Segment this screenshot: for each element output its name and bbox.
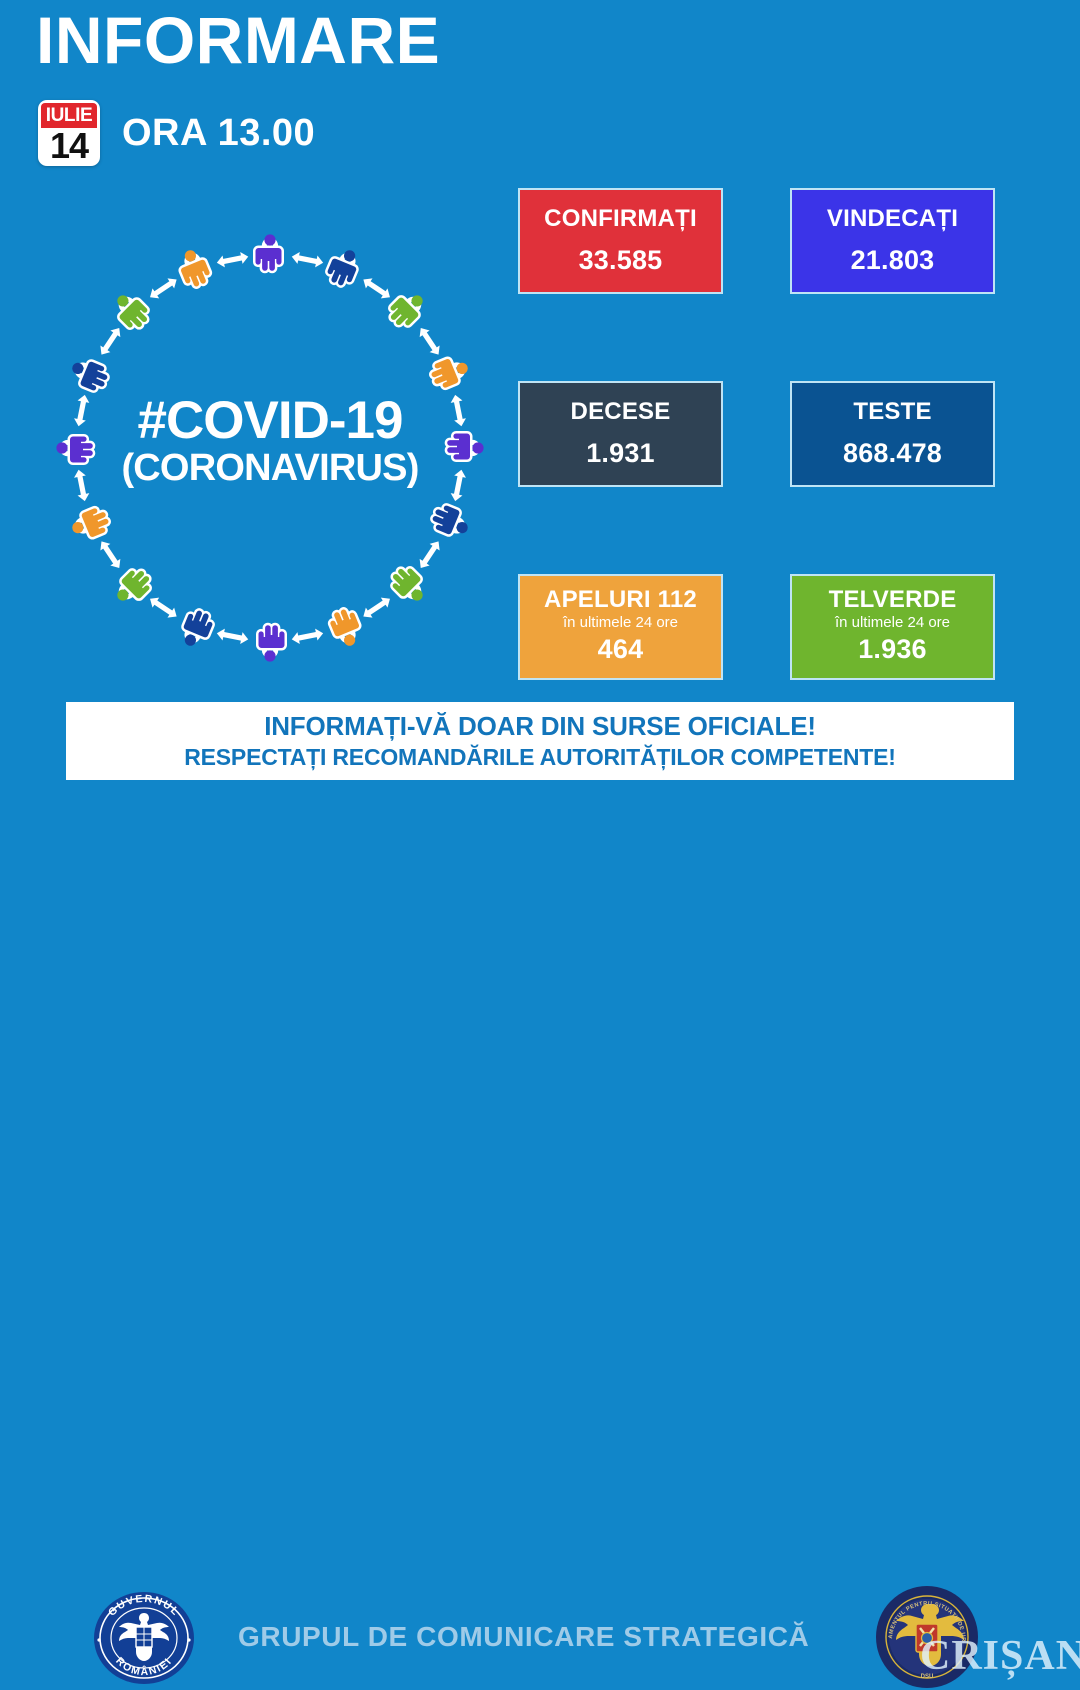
crisana-watermark: CRIȘANA bbox=[920, 1635, 1080, 1677]
stat-card-apeluri-112: APELURI 112în ultimele 24 ore464 bbox=[518, 574, 723, 680]
stat-value-vindecati: 21.803 bbox=[851, 246, 935, 276]
double-arrow-icon bbox=[73, 394, 91, 428]
stat-value-decese: 1.931 bbox=[586, 439, 655, 469]
person-icon bbox=[327, 606, 365, 650]
double-arrow-icon bbox=[360, 594, 393, 622]
page-title: INFORMARE bbox=[36, 6, 440, 75]
person-icon bbox=[385, 287, 429, 331]
stat-value-teste: 868.478 bbox=[843, 439, 942, 469]
stat-label-vindecati: VINDECAȚI bbox=[827, 206, 958, 232]
header: INFORMARE IULIE 14 ORA 13.00 bbox=[0, 0, 1080, 180]
stat-label-confirmati: CONFIRMAȚI bbox=[544, 206, 697, 232]
double-arrow-icon bbox=[291, 251, 325, 269]
notice-line-primary: INFORMAȚI-VĂ DOAR DIN SURSE OFICIALE! bbox=[264, 711, 816, 742]
person-icon bbox=[67, 356, 111, 394]
double-arrow-icon bbox=[216, 251, 250, 269]
time-label: ORA 13.00 bbox=[122, 112, 315, 155]
double-arrow-icon bbox=[216, 627, 250, 645]
person-icon bbox=[428, 353, 472, 391]
notice-line-secondary: RESPECTAȚI RECOMANDĂRILE AUTORITĂȚILOR C… bbox=[184, 744, 896, 771]
double-arrow-icon bbox=[360, 274, 393, 302]
person-icon bbox=[111, 565, 155, 609]
person-icon bbox=[387, 563, 431, 607]
double-arrow-icon bbox=[449, 469, 467, 503]
stat-label-decese: DECESE bbox=[571, 399, 671, 425]
double-arrow-icon bbox=[416, 325, 444, 358]
double-arrow-icon bbox=[291, 627, 325, 645]
footer-title: GRUPUL DE COMUNICARE STRATEGICĂ bbox=[238, 1621, 809, 1653]
calendar-day-label: 14 bbox=[38, 128, 100, 166]
stat-label-teste: TESTE bbox=[853, 399, 931, 425]
stat-card-decese: DECESE1.931 bbox=[518, 381, 723, 487]
footer: GUVERNUL ROMÂNIEI GRUPUL DE COMUNICARE S… bbox=[0, 790, 1080, 906]
double-arrow-icon bbox=[147, 274, 180, 302]
double-arrow-icon bbox=[96, 538, 124, 571]
person-icon bbox=[178, 607, 216, 651]
person-icon bbox=[324, 245, 362, 289]
stat-card-vindecati: VINDECAȚI21.803 bbox=[790, 188, 995, 294]
guvernul-romaniei-seal-icon: GUVERNUL ROMÂNIEI bbox=[88, 1590, 200, 1686]
stat-label-telverde: TELVERDE bbox=[829, 587, 957, 613]
person-icon bbox=[68, 505, 112, 543]
notice-banner: INFORMAȚI-VĂ DOAR DIN SURSE OFICIALE! RE… bbox=[66, 702, 1014, 780]
person-icon bbox=[259, 625, 285, 661]
double-arrow-icon bbox=[96, 325, 124, 358]
stat-card-confirmati: CONFIRMAȚI33.585 bbox=[518, 188, 723, 294]
stat-label-apeluri-112: APELURI 112 bbox=[544, 587, 697, 613]
stat-value-confirmati: 33.585 bbox=[579, 246, 663, 276]
stat-card-teste: TESTE868.478 bbox=[790, 381, 995, 487]
covid-people-circle-icon bbox=[40, 218, 500, 678]
stat-value-apeluri-112: 464 bbox=[598, 635, 644, 665]
stat-note-apeluri-112: în ultimele 24 ore bbox=[563, 614, 678, 631]
double-arrow-icon bbox=[449, 394, 467, 428]
calendar-icon: IULIE 14 bbox=[38, 100, 100, 166]
stats-grid: CONFIRMAȚI33.585VINDECAȚI21.803DECESE1.9… bbox=[518, 188, 1018, 680]
person-icon bbox=[109, 289, 153, 333]
stat-value-telverde: 1.936 bbox=[858, 635, 927, 665]
stat-card-telverde: TELVERDEîn ultimele 24 ore1.936 bbox=[790, 574, 995, 680]
stat-note-telverde: în ultimele 24 ore bbox=[835, 614, 950, 631]
covid-people-circle-graphic: #COVID-19 (CORONAVIRUS) bbox=[40, 218, 500, 678]
double-arrow-icon bbox=[147, 594, 180, 622]
person-icon bbox=[56, 437, 92, 463]
date-row: IULIE 14 ORA 13.00 bbox=[38, 100, 315, 166]
double-arrow-icon bbox=[73, 469, 91, 503]
person-icon bbox=[256, 234, 282, 270]
person-icon bbox=[175, 246, 213, 290]
person-icon bbox=[447, 434, 483, 460]
double-arrow-icon bbox=[416, 538, 444, 571]
person-icon bbox=[429, 502, 473, 540]
